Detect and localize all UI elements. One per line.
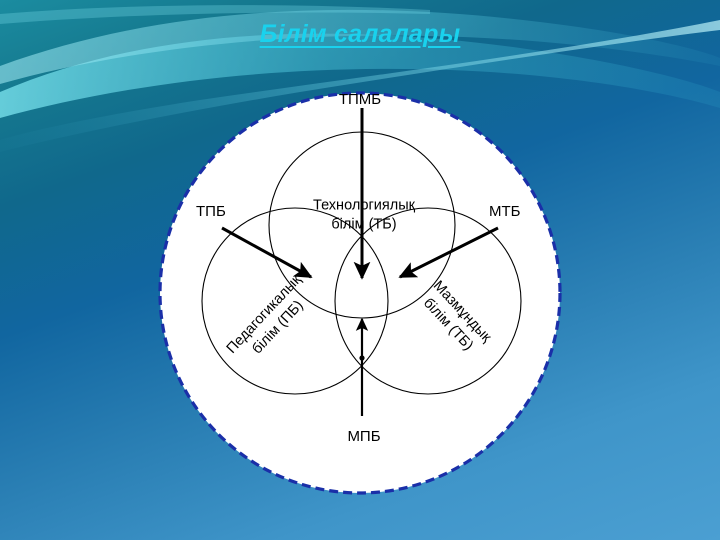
circle-label-technological: Технологиялық білім (ТБ) (313, 196, 415, 233)
circle-label-technological-line1: Технологиялық (313, 196, 415, 215)
label-tpmb: ТПМБ (339, 91, 381, 108)
label-mpb: МПБ (347, 428, 380, 445)
circle-label-technological-line2: білім (ТБ) (313, 215, 415, 234)
arrow-mpb-origin-dot (359, 355, 364, 360)
slide-canvas: Білім салалары ТПМБ ТПБ МТБ МПБ Технолог… (0, 0, 720, 540)
label-mtb: МТБ (489, 203, 521, 220)
label-tpb: ТПБ (196, 203, 226, 220)
venn-diagram (0, 0, 720, 540)
